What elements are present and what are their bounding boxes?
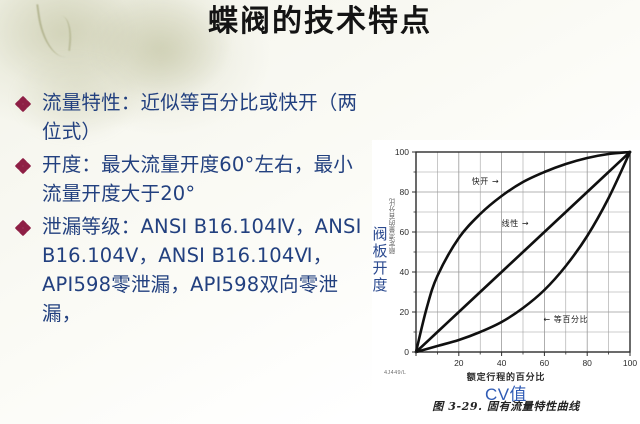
- x-tick-label: 20: [454, 358, 464, 368]
- y-tick-label: 0: [404, 347, 409, 357]
- bullet-item-leakage-class: 泄漏等级：ANSI B16.104Ⅳ，ANSI B16.104Ⅴ，ANSI B1…: [42, 215, 362, 325]
- slide-root: 蝶阀的技术特点 流量特性：近似等百分比或快开（两位式） 开度：最大流量开度60°…: [0, 0, 640, 424]
- x-tick-label: 80: [582, 358, 592, 368]
- slide-title-bar: 蝶阀的技术特点: [0, 4, 640, 40]
- list-item: 流量特性：近似等百分比或快开（两位式）: [14, 88, 366, 146]
- chart-inner: 20406080100020406080100快开 →线性 →← 等百分比 额定…: [372, 140, 640, 424]
- y-axis-label-overlay: 阀板开度: [368, 226, 392, 294]
- diamond-bullet-icon: [16, 159, 30, 173]
- y-tick-label: 100: [395, 147, 409, 157]
- figure-caption: 图 3-29. 固有流量特性曲线: [372, 398, 640, 414]
- diamond-bullet-icon: [16, 97, 30, 111]
- y-tick-label: 40: [400, 267, 410, 277]
- x-tick-label: 40: [497, 358, 507, 368]
- diamond-bullet-icon: [16, 221, 30, 235]
- page-title: 蝶阀的技术特点: [208, 4, 432, 40]
- x-tick-label: 60: [540, 358, 550, 368]
- bullet-item-opening-degree: 开度：最大流量开度60°左右，最小流量开度大于20°: [42, 153, 353, 205]
- list-item: 开度：最大流量开度60°左右，最小流量开度大于20°: [14, 150, 366, 208]
- flow-characteristic-curves-chart: 20406080100020406080100快开 →线性 →← 等百分比: [372, 140, 640, 372]
- curve-annotation-等百分比: ← 等百分比: [543, 314, 588, 324]
- y-tick-label: 20: [400, 307, 410, 317]
- curve-annotation-快开: 快开 →: [472, 176, 500, 186]
- y-tick-label: 60: [400, 227, 410, 237]
- y-tick-label: 80: [400, 187, 410, 197]
- figure-code-marking: 4J449/L: [384, 370, 406, 376]
- bullet-list: 流量特性：近似等百分比或快开（两位式） 开度：最大流量开度60°左右，最小流量开…: [14, 88, 366, 332]
- flow-characteristic-chart-panel: 20406080100020406080100快开 →线性 →← 等百分比 额定…: [372, 140, 640, 424]
- curve-annotation-线性: 线性 →: [502, 218, 530, 228]
- x-tick-label: 100: [623, 358, 637, 368]
- bullet-item-flow-characteristic: 流量特性：近似等百分比或快开（两位式）: [42, 91, 357, 143]
- list-item: 泄漏等级：ANSI B16.104Ⅳ，ANSI B16.104Ⅴ，ANSI B1…: [14, 212, 366, 328]
